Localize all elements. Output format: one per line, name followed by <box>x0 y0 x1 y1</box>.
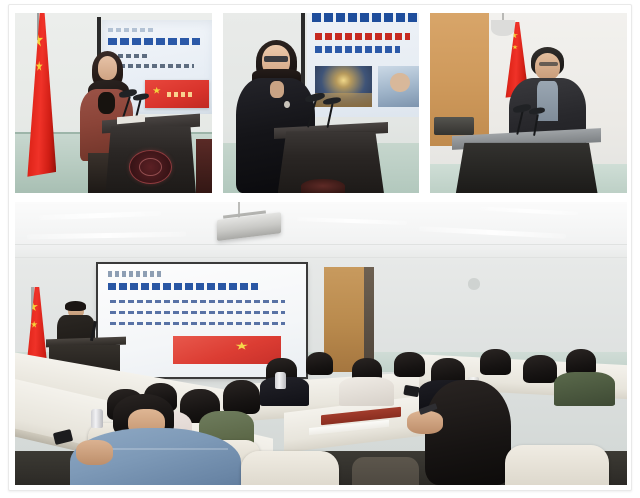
collage-page <box>0 0 640 498</box>
audience-person <box>306 352 334 375</box>
wall-lamp-icon <box>491 20 515 36</box>
chair-foreground <box>241 451 339 485</box>
university-emblem <box>129 150 172 184</box>
slide-header-text <box>108 28 156 33</box>
audience-person <box>480 349 511 374</box>
slide-body-text <box>110 298 285 330</box>
room-speaker-hair <box>65 301 86 311</box>
slide-body-line-1 <box>315 33 410 39</box>
chair-foreground <box>505 445 609 485</box>
slide-title-text <box>108 283 258 290</box>
speaker-brooch <box>284 101 290 108</box>
wall-speaker-icon <box>468 278 480 289</box>
photo-row-top <box>15 13 627 193</box>
foreground-man-hand <box>76 440 113 465</box>
audience-person <box>394 352 425 377</box>
slide-title-text <box>312 13 419 22</box>
slide-party-flag-image <box>145 80 209 108</box>
equipment-box <box>434 117 473 135</box>
slide-image-portrait <box>378 66 419 107</box>
door-frame-shadow <box>364 267 374 372</box>
speaker-head <box>535 53 561 80</box>
collage-card <box>8 4 632 491</box>
lectern-body <box>456 143 598 193</box>
speaker-shirt <box>537 81 559 121</box>
speaker-collar <box>98 92 116 114</box>
slide-header-text <box>108 271 162 277</box>
photo-1-woman-maroon-coat[interactable] <box>15 13 212 193</box>
lectern-emblem-glow <box>301 179 344 193</box>
slide-title-text <box>108 38 199 45</box>
ceiling-seam <box>15 244 627 245</box>
slide-party-flag-image <box>173 336 281 364</box>
speaker-head <box>98 56 118 79</box>
speaker-glasses <box>539 62 559 67</box>
ceiling-seam-2 <box>15 257 627 258</box>
water-bottle <box>275 372 286 389</box>
water-bottle <box>91 409 103 429</box>
flag-star-small <box>512 45 518 50</box>
audience-person <box>566 349 597 374</box>
audience-person <box>523 355 557 383</box>
audience-person-cream-top <box>339 377 394 405</box>
audience-person <box>223 380 260 414</box>
chair-foreground-dark <box>352 457 419 485</box>
foreground-woman-hair <box>425 380 511 485</box>
photo-2-woman-black-jacket[interactable] <box>223 13 420 193</box>
slide-body-line-2 <box>315 46 400 52</box>
flag-star-small <box>36 61 43 72</box>
side-furniture <box>196 139 212 193</box>
photo-4-conference-room-wide[interactable] <box>15 202 627 485</box>
audience-person-green-top <box>554 372 615 406</box>
foreground-woman-hand <box>407 411 444 434</box>
flag-star-small <box>31 321 38 328</box>
speaker-neck <box>270 81 284 97</box>
speaker-glasses <box>264 56 288 61</box>
slide-body-line-2 <box>112 64 194 68</box>
photo-3-man-dark-jacket[interactable] <box>430 13 627 193</box>
